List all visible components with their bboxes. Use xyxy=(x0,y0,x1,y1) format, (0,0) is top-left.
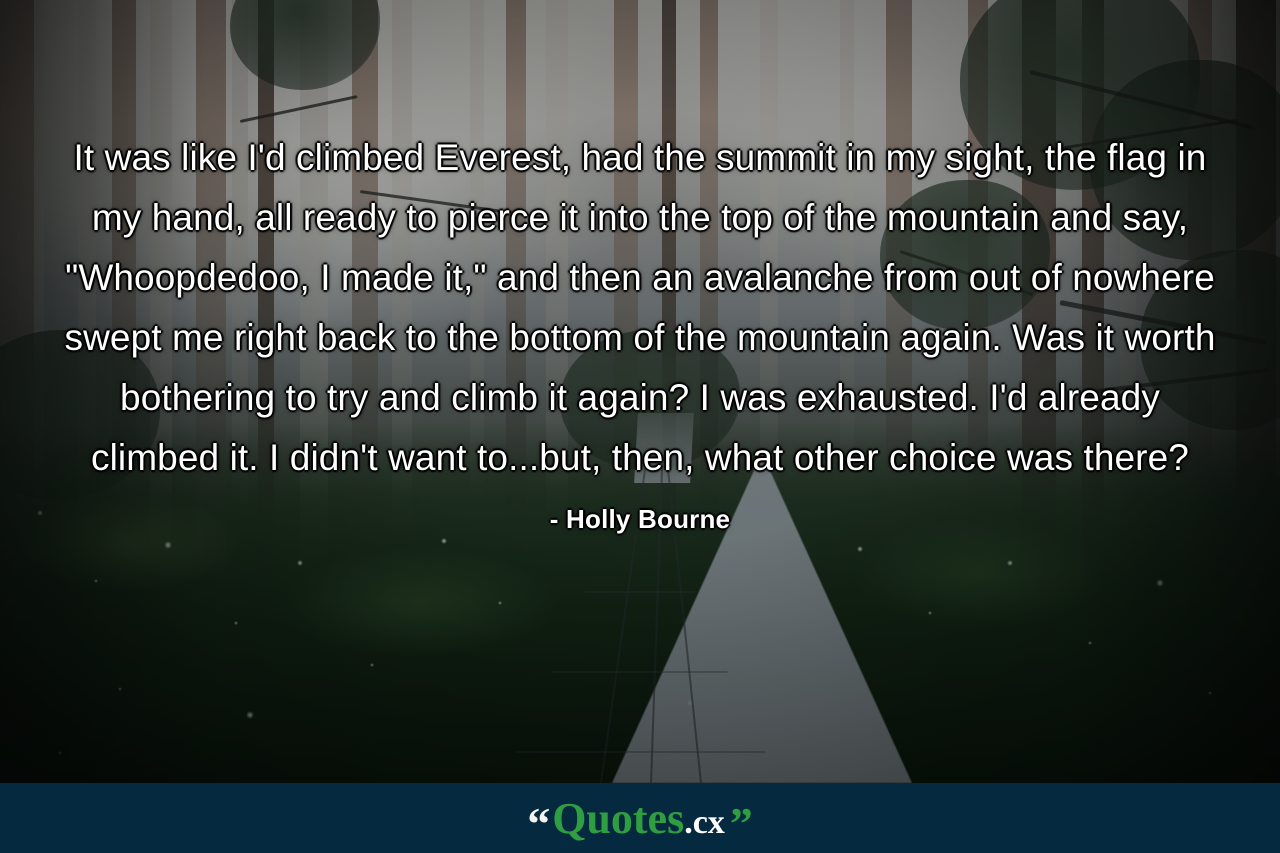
close-quote-icon: ” xyxy=(730,801,753,847)
brand-name: Quotes xyxy=(552,797,684,841)
quote-text: It was like I'd climbed Everest, had the… xyxy=(64,128,1216,488)
open-quote-icon: “ xyxy=(527,801,550,847)
quote-author: - Holly Bourne xyxy=(64,504,1216,535)
brand-dot: . xyxy=(684,806,693,840)
quote-image-card: It was like I'd climbed Everest, had the… xyxy=(0,0,1280,853)
quote-block: It was like I'd climbed Everest, had the… xyxy=(64,128,1216,535)
footer-bar: “ Quotes . cx ” xyxy=(0,783,1280,853)
brand-tld: cx xyxy=(693,806,725,840)
site-logo[interactable]: “ Quotes . cx ” xyxy=(527,795,753,841)
